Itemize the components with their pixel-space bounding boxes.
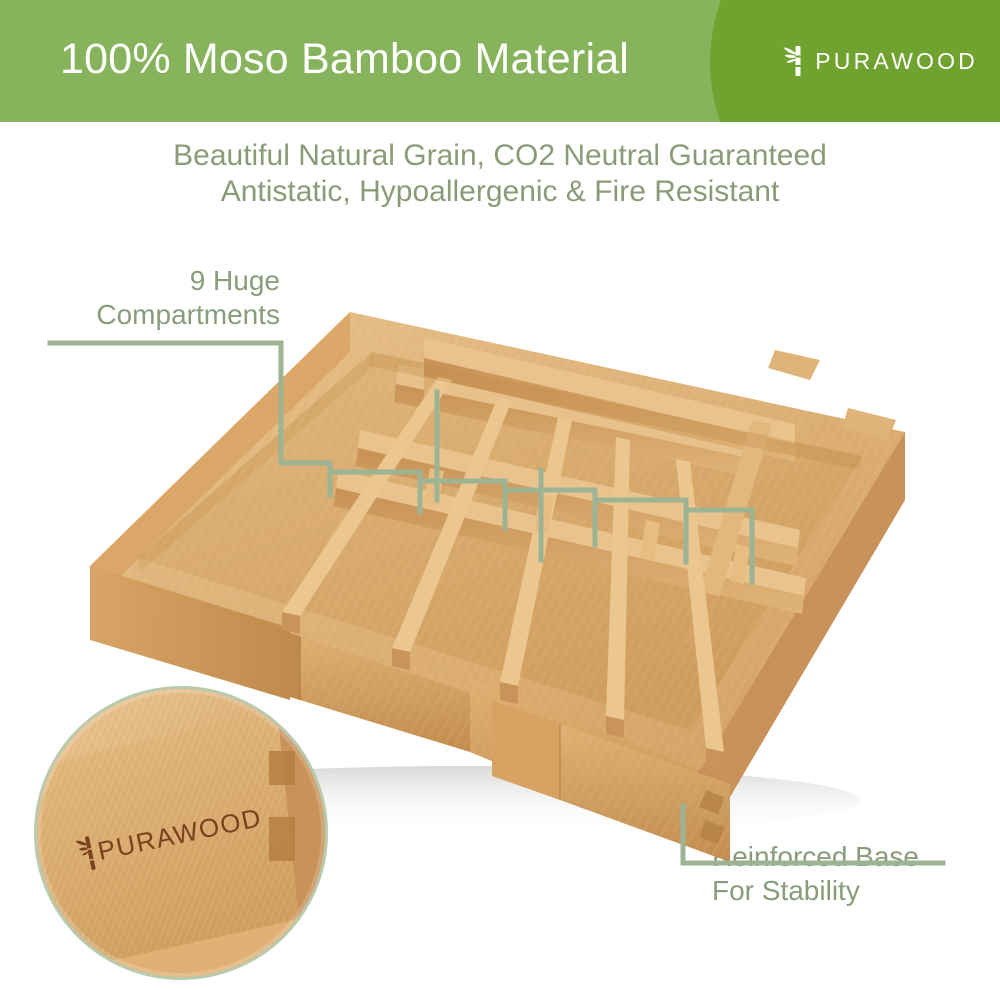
corner-detail-inset: PURAWOOD — [34, 686, 328, 980]
